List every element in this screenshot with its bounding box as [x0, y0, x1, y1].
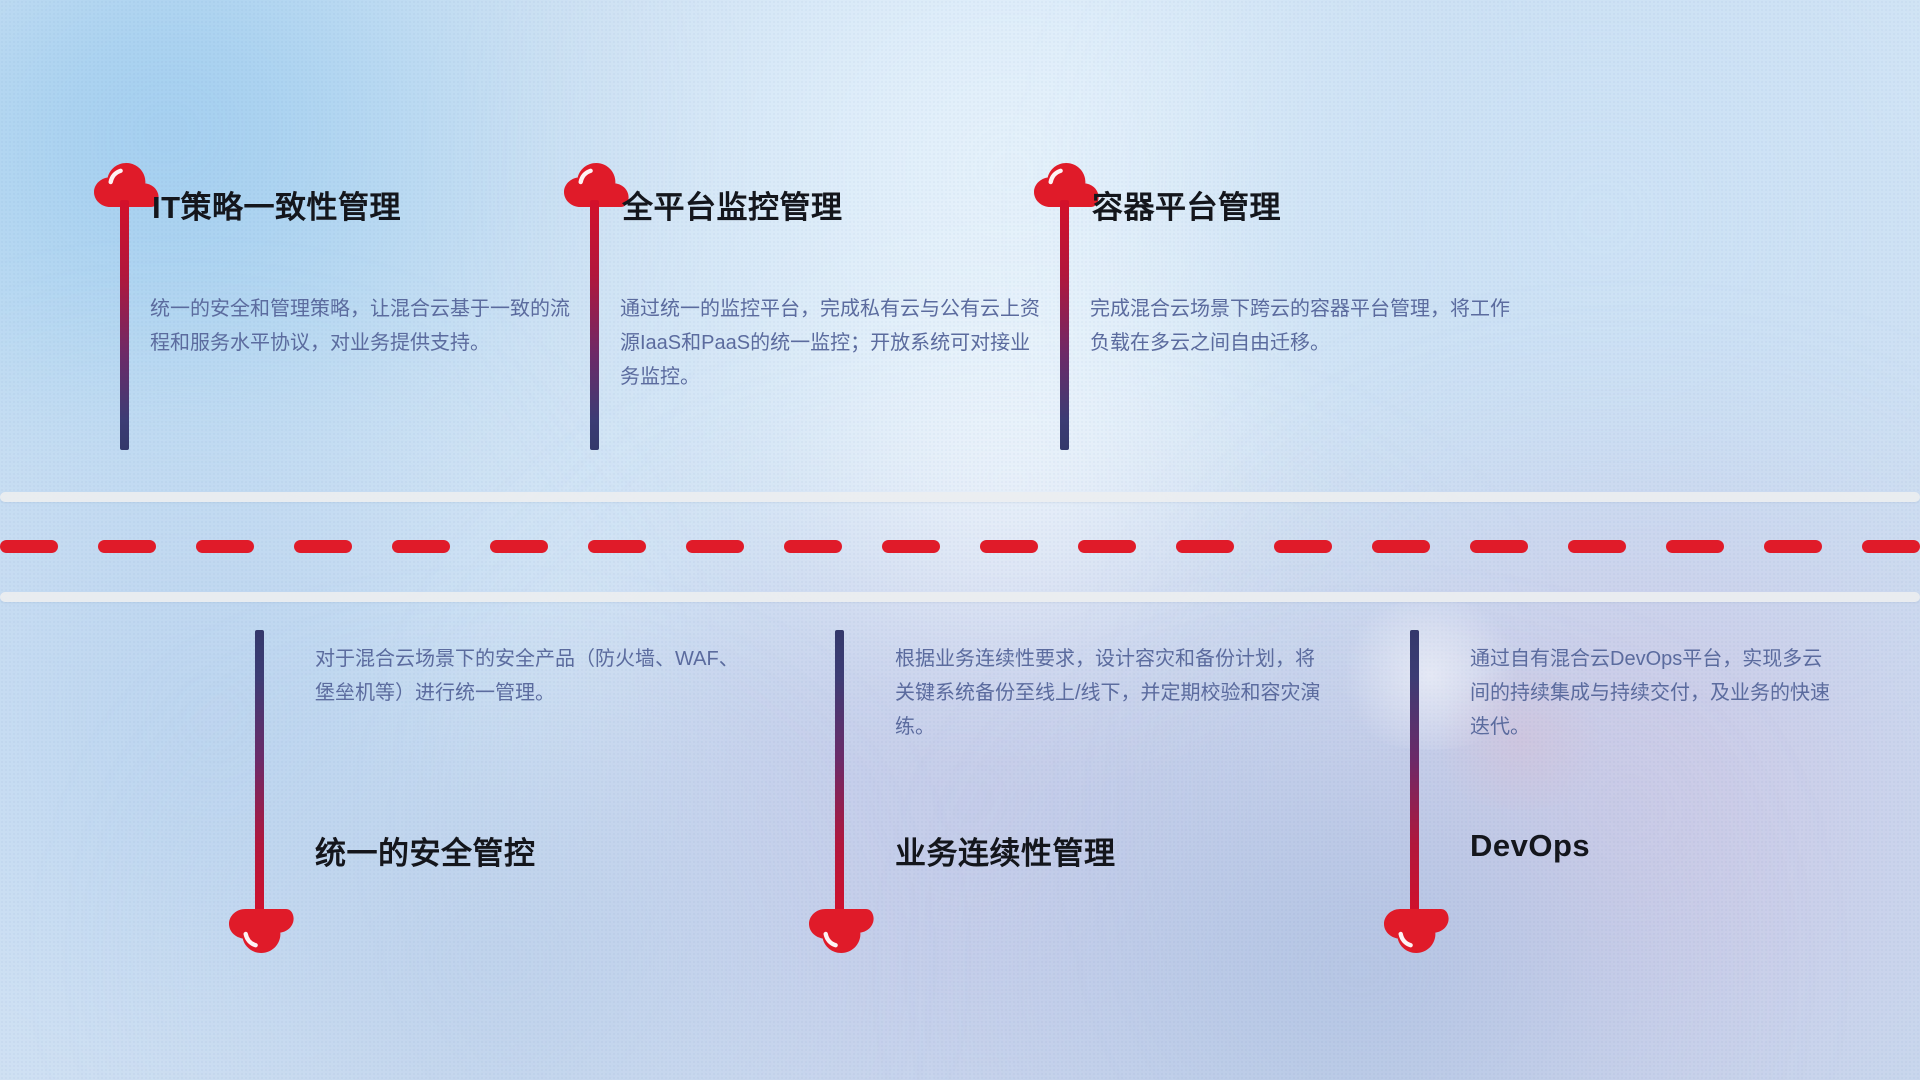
road-dash — [784, 540, 842, 553]
infographic-canvas: IT策略一致性管理 统一的安全和管理策略，让混合云基于一致的流程和服务水平协议，… — [0, 0, 1920, 1080]
road-dash — [588, 540, 646, 553]
road-dash — [1666, 540, 1724, 553]
road-dash — [1176, 540, 1234, 553]
road-divider — [0, 492, 1920, 602]
bottom-item-1-title: 统一的安全管控 — [315, 828, 536, 873]
road-dash — [882, 540, 940, 553]
timeline-stem — [1060, 200, 1069, 450]
timeline-stem — [1410, 630, 1419, 920]
bottom-item-1-description: 对于混合云场景下的安全产品（防火墙、WAF、堡垒机等）进行统一管理。 — [315, 642, 745, 710]
top-item-3-title: 容器平台管理 — [1092, 182, 1281, 227]
timeline-stem — [120, 200, 129, 450]
road-dash — [1470, 540, 1528, 553]
top-item-2-description: 通过统一的监控平台，完成私有云与公有云上资源IaaS和PaaS的统一监控；开放系… — [620, 292, 1050, 394]
timeline-stem — [590, 200, 599, 450]
timeline-stem — [255, 630, 264, 920]
cloud-icon — [227, 908, 297, 956]
road-dash — [490, 540, 548, 553]
cloud-icon-glyph — [227, 908, 297, 956]
bottom-item-3-description: 通过自有混合云DevOps平台，实现多云间的持续集成与持续交付，及业务的快速迭代… — [1470, 642, 1830, 744]
top-item-3-description: 完成混合云场景下跨云的容器平台管理，将工作负载在多云之间自由迁移。 — [1090, 292, 1520, 360]
cloud-icon — [1382, 908, 1452, 956]
road-dash — [392, 540, 450, 553]
road-dash — [1372, 540, 1430, 553]
cloud-icon — [807, 908, 877, 956]
cloud-icon-glyph — [807, 908, 877, 956]
top-item-1-title: IT策略一致性管理 — [152, 182, 401, 227]
road-edge-bottom — [0, 592, 1920, 602]
road-dash — [0, 540, 58, 553]
road-center-dashes — [0, 539, 1920, 553]
road-dash — [294, 540, 352, 553]
bottom-item-2-description: 根据业务连续性要求，设计容灾和备份计划，将关键系统备份至线上/线下，并定期校验和… — [895, 642, 1325, 744]
top-item-1-description: 统一的安全和管理策略，让混合云基于一致的流程和服务水平协议，对业务提供支持。 — [150, 292, 580, 360]
timeline-stem — [835, 630, 844, 920]
road-dash — [1764, 540, 1822, 553]
road-dash — [1274, 540, 1332, 553]
road-dash — [686, 540, 744, 553]
bottom-item-3-title: DevOps — [1470, 828, 1590, 864]
cloud-icon-glyph — [1382, 908, 1452, 956]
road-dash — [196, 540, 254, 553]
road-dash — [98, 540, 156, 553]
road-dash — [1862, 540, 1920, 553]
road-dash — [980, 540, 1038, 553]
top-item-2-title: 全平台监控管理 — [622, 182, 843, 227]
road-edge-top — [0, 492, 1920, 502]
bottom-item-2-title: 业务连续性管理 — [895, 828, 1116, 873]
road-dash — [1568, 540, 1626, 553]
road-dash — [1078, 540, 1136, 553]
